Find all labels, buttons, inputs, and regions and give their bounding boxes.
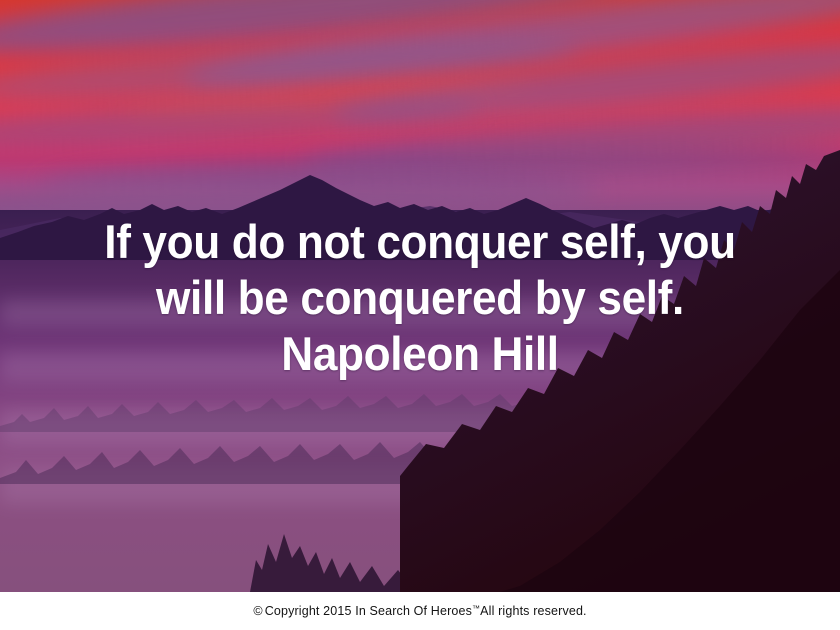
background-photo: If you do not conquer self, you will be … xyxy=(0,0,840,592)
copyright-text-after: All rights reserved. xyxy=(480,604,587,618)
quote-poster: If you do not conquer self, you will be … xyxy=(0,0,840,630)
quote-line-2: will be conquered by self. xyxy=(25,270,815,326)
quote-text-block: If you do not conquer self, you will be … xyxy=(25,214,815,382)
footer-bar: © Copyright 2015 In Search Of Heroes ™ A… xyxy=(0,592,840,630)
copyright-icon: © xyxy=(253,604,262,618)
trademark-icon: ™ xyxy=(472,604,480,613)
quote-line-1: If you do not conquer self, you xyxy=(25,214,815,270)
quote-author: Napoleon Hill xyxy=(25,326,815,382)
copyright-text-before: Copyright 2015 In Search Of Heroes xyxy=(265,604,472,618)
copyright-notice: © Copyright 2015 In Search Of Heroes ™ A… xyxy=(253,604,586,618)
